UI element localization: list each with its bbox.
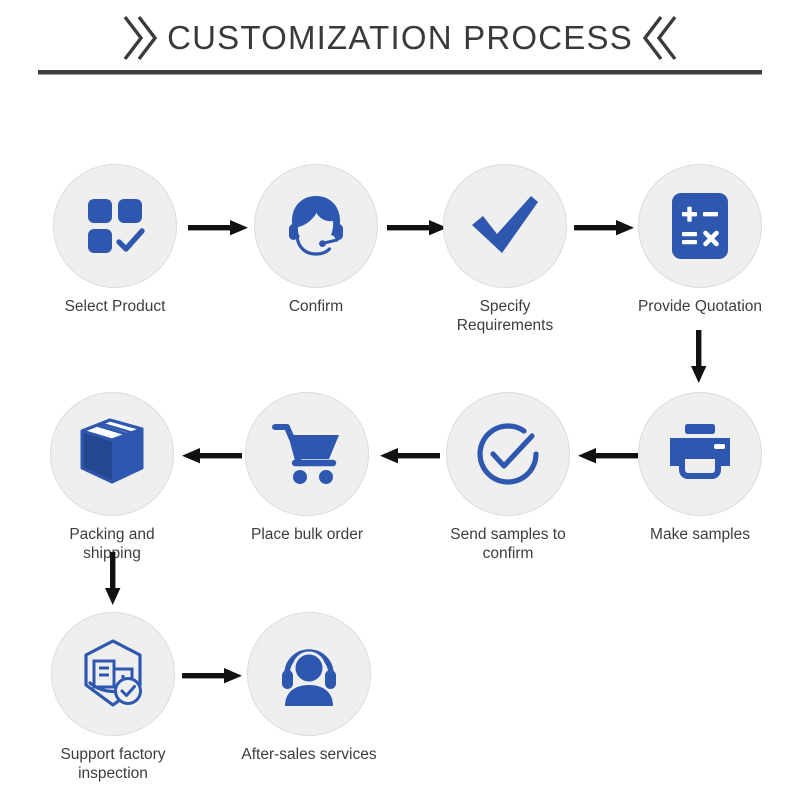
step-icon-bubble <box>53 164 177 288</box>
step-label: Make samples <box>630 525 770 544</box>
step-label: Confirm <box>246 297 386 316</box>
calculator-icon <box>669 190 731 262</box>
step-node-select-product[interactable]: Select Product <box>45 164 185 316</box>
printer-icon <box>664 422 736 486</box>
product-grid-check-icon <box>82 193 148 259</box>
step-node-specify-requirements[interactable]: Specify Requirements <box>435 164 575 335</box>
step-icon-bubble <box>51 612 175 736</box>
headphones-person-icon <box>273 640 345 708</box>
step-node-support-factory-inspection[interactable]: Support factory inspection <box>43 612 183 783</box>
connector-arrow-right <box>574 215 636 241</box>
step-icon-bubble <box>245 392 369 516</box>
step-node-packing-and-shipping[interactable]: Packing and shipping <box>42 392 182 563</box>
step-icon-bubble <box>247 612 371 736</box>
step-node-provide-quotation[interactable]: Provide Quotation <box>630 164 770 316</box>
connector-arrow-left <box>378 443 440 469</box>
step-node-confirm[interactable]: Confirm <box>246 164 386 316</box>
step-icon-bubble <box>50 392 174 516</box>
headset-agent-icon <box>281 191 351 261</box>
step-node-place-bulk-order[interactable]: Place bulk order <box>237 392 377 544</box>
package-box-icon <box>76 418 148 490</box>
connector-arrow-down <box>686 330 712 384</box>
step-icon-bubble <box>638 392 762 516</box>
step-label: Provide Quotation <box>630 297 770 316</box>
step-icon-bubble <box>446 392 570 516</box>
step-label: After-sales services <box>239 745 379 764</box>
step-node-after-sales-services[interactable]: After-sales services <box>239 612 379 764</box>
connector-arrow-left <box>576 443 638 469</box>
shopping-cart-icon <box>271 421 343 487</box>
step-icon-bubble <box>254 164 378 288</box>
connector-arrow-down <box>100 552 126 606</box>
step-icon-bubble <box>443 164 567 288</box>
connector-arrow-left <box>180 443 242 469</box>
process-flow-diagram: Select Product <box>0 0 800 800</box>
step-label: Specify Requirements <box>435 297 575 335</box>
check-circle-outline-icon <box>472 418 544 490</box>
step-node-send-samples-to-confirm[interactable]: Send samples to confirm <box>438 392 578 563</box>
factory-shield-check-icon <box>76 637 150 711</box>
step-icon-bubble <box>638 164 762 288</box>
connector-arrow-right <box>188 215 250 241</box>
checkmark-icon <box>468 193 542 259</box>
step-label: Select Product <box>45 297 185 316</box>
step-label: Place bulk order <box>237 525 377 544</box>
step-label: Support factory inspection <box>43 745 183 783</box>
connector-arrow-right <box>182 663 244 689</box>
step-label: Send samples to confirm <box>438 525 578 563</box>
step-node-make-samples[interactable]: Make samples <box>630 392 770 544</box>
